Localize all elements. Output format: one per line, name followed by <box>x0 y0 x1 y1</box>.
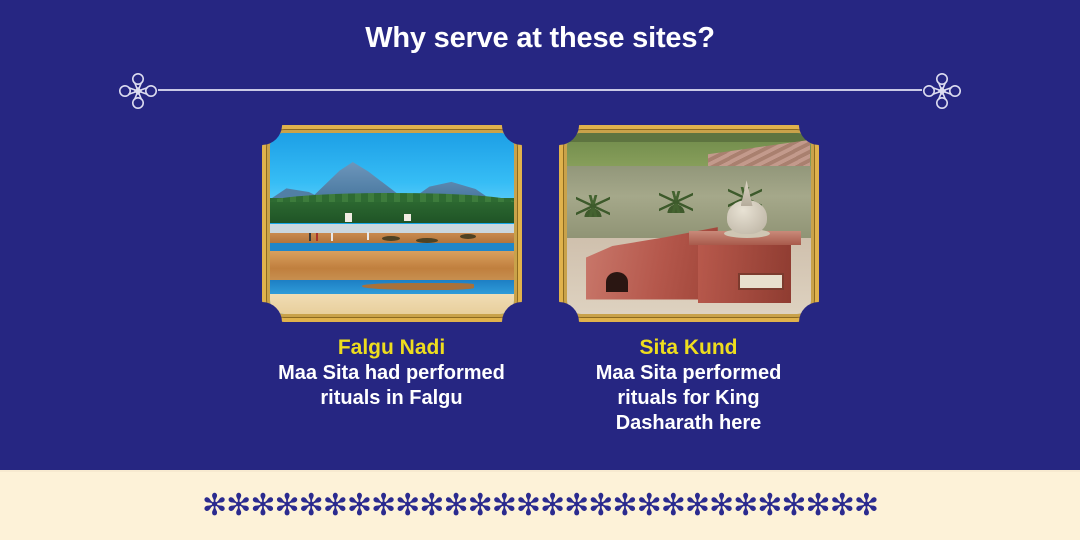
person <box>367 232 369 240</box>
flower-motif: ✻ <box>202 491 226 521</box>
horizon-line <box>567 133 811 142</box>
flower-motif: ✻ <box>637 491 661 521</box>
flower-motif: ✻ <box>588 491 612 521</box>
card-caption: Sita Kund Maa Sita performed rituals for… <box>559 335 819 436</box>
flower-motif: ✻ <box>395 491 419 521</box>
flower-motif: ✻ <box>661 491 685 521</box>
photo-frame <box>262 125 522 322</box>
flower-motif-row: ✻✻✻✻✻✻✻✻✻✻✻✻✻✻✻✻✻✻✻✻✻✻✻✻✻✻✻✻ <box>202 491 878 521</box>
site-cards-row: Falgu Nadi Maa Sita had performed ritual… <box>0 125 1080 436</box>
flower-motif: ✻ <box>443 491 467 521</box>
diamond-knot-ornament-left <box>116 72 160 110</box>
flower-motif: ✻ <box>323 491 347 521</box>
shrine-plinth <box>698 242 791 304</box>
dome-spire <box>741 180 753 206</box>
shikhara-dome <box>727 182 767 234</box>
stone-plaque <box>738 273 784 290</box>
page-title: Why serve at these sites? <box>0 22 1080 55</box>
card-description: Maa Sita had performed rituals in Falgu <box>262 361 522 411</box>
flower-motif: ✻ <box>347 491 371 521</box>
building <box>404 214 411 221</box>
divider-rule <box>158 89 922 91</box>
card-title: Sita Kund <box>559 335 819 361</box>
decorative-divider <box>108 68 972 112</box>
flower-motif: ✻ <box>781 491 805 521</box>
diamond-knot-ornament-right <box>920 72 964 110</box>
flower-motif: ✻ <box>540 491 564 521</box>
near-sand <box>270 294 514 314</box>
water-channel <box>270 243 514 250</box>
flower-motif: ✻ <box>419 491 443 521</box>
flower-motif: ✻ <box>757 491 781 521</box>
far-water <box>270 224 514 233</box>
shrub <box>416 238 438 243</box>
palm-reflection <box>659 191 693 213</box>
flower-motif: ✻ <box>854 491 878 521</box>
site-card-sita-kund: Sita Kund Maa Sita performed rituals for… <box>559 125 819 436</box>
flower-motif: ✻ <box>371 491 395 521</box>
palm-reflection <box>576 195 610 217</box>
flower-motif: ✻ <box>685 491 709 521</box>
person <box>331 233 333 241</box>
flower-motif: ✻ <box>226 491 250 521</box>
flower-motif: ✻ <box>250 491 274 521</box>
flower-motif: ✻ <box>468 491 492 521</box>
sandbar <box>270 251 514 280</box>
flower-motif: ✻ <box>806 491 830 521</box>
flower-motif: ✻ <box>299 491 323 521</box>
bottom-decorative-band: ✻✻✻✻✻✻✻✻✻✻✻✻✻✻✻✻✻✻✻✻✻✻✻✻✻✻✻✻ <box>0 470 1080 540</box>
slide-root: Why serve at these sites? <box>0 0 1080 540</box>
treeline <box>270 198 514 223</box>
falgu-river-photo <box>270 133 514 314</box>
building <box>345 213 352 222</box>
flower-motif: ✻ <box>612 491 636 521</box>
sita-kund-photo <box>567 133 811 314</box>
flower-motif: ✻ <box>564 491 588 521</box>
person <box>316 233 318 241</box>
person <box>309 233 311 241</box>
flower-motif: ✻ <box>709 491 733 521</box>
wall-arch-opening <box>606 272 628 292</box>
site-card-falgu-nadi: Falgu Nadi Maa Sita had performed ritual… <box>262 125 522 436</box>
flower-motif: ✻ <box>516 491 540 521</box>
photo-frame <box>559 125 819 322</box>
card-description: Maa Sita performed rituals for King Dash… <box>559 361 819 436</box>
card-caption: Falgu Nadi Maa Sita had performed ritual… <box>262 335 522 411</box>
flower-motif: ✻ <box>733 491 757 521</box>
flower-motif: ✻ <box>492 491 516 521</box>
card-title: Falgu Nadi <box>262 335 522 361</box>
flower-motif: ✻ <box>830 491 854 521</box>
flower-motif: ✻ <box>274 491 298 521</box>
